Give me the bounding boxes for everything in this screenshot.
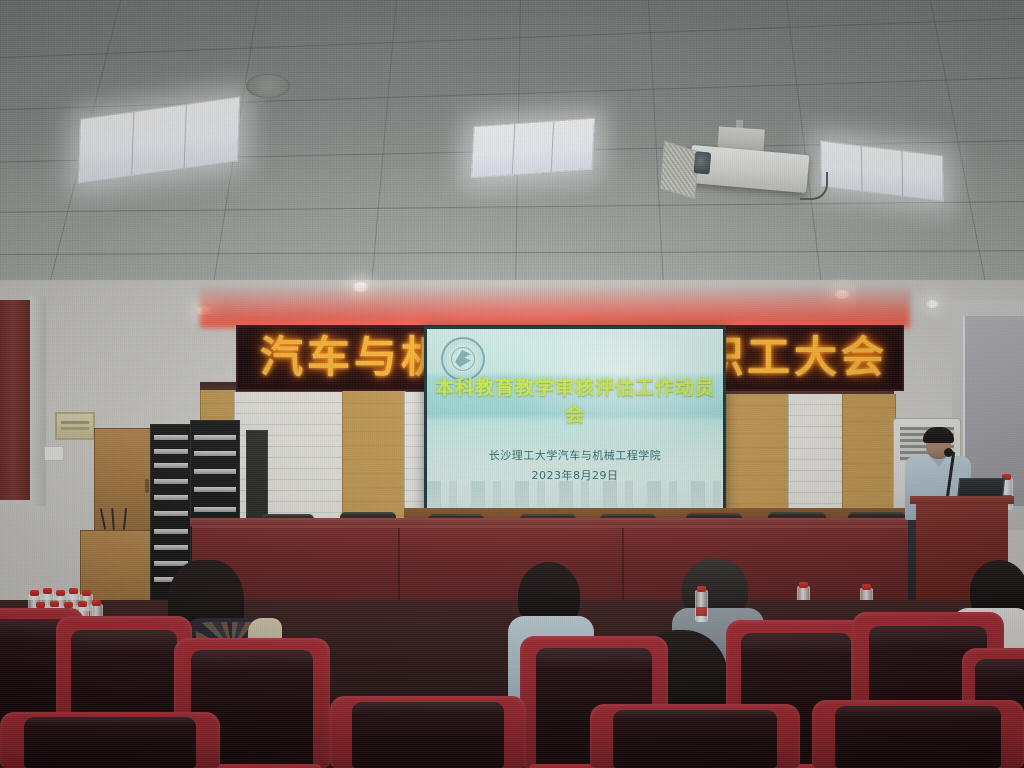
slide-subtitle: 长沙理工大学汽车与机械工程学院	[427, 447, 723, 463]
led-banner-glow	[200, 286, 910, 328]
podium-top	[910, 496, 1014, 504]
water-bottle	[695, 590, 708, 622]
microphone-on-cabinet	[96, 508, 140, 530]
audience-seat-front[interactable]	[330, 696, 526, 768]
slide-title: 本科教育教学审核评估工作动员会	[427, 373, 723, 427]
recessed-downlight	[926, 300, 939, 308]
led-banner-text-left: 汽车与机	[260, 331, 448, 385]
wall-panel-wood	[342, 390, 406, 522]
audience-seat-front[interactable]	[812, 700, 1024, 768]
led-banner-text-right: 职工大会	[700, 331, 888, 385]
side-door[interactable]	[0, 300, 34, 500]
wall-plaque	[55, 412, 95, 440]
ceiling-vent	[246, 74, 290, 98]
emblem-swoosh-icon	[455, 350, 471, 367]
ceiling	[0, 0, 1024, 300]
microphone-icon	[944, 448, 953, 457]
wall-panel-wood	[842, 394, 896, 518]
light-switch[interactable]	[44, 446, 64, 461]
projector-lens-icon	[693, 151, 711, 174]
ceiling-light-panel	[471, 118, 595, 179]
presentation-slide: 本科教育教学审核评估工作动员会 长沙理工大学汽车与机械工程学院 2023年8月2…	[427, 329, 723, 515]
audience-seat-front[interactable]	[0, 712, 220, 768]
glasses-icon	[927, 441, 950, 447]
door-jamb	[30, 296, 46, 506]
wall-panel-white	[788, 394, 844, 518]
audience-seat-front[interactable]	[590, 704, 800, 768]
wall-panel-wood	[716, 392, 790, 518]
conference-hall-photo: 汽车与机 职工大会 本科教育教学审核评估工作动员会 长沙理工大学汽车与机械工程学…	[0, 0, 1024, 768]
projection-screen: 本科教育教学审核评估工作动员会 长沙理工大学汽车与机械工程学院 2023年8月2…	[424, 326, 726, 518]
